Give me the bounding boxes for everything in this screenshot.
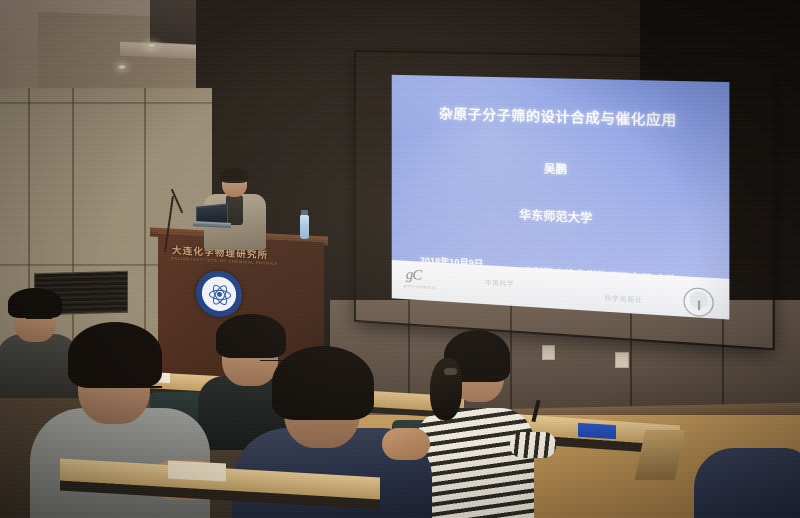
presentation-slide: 杂原子分子筛的设计合成与催化应用 吴鹏 华东师范大学 2018年10月9日 中科… xyxy=(392,75,730,320)
lecture-hall-photo: 杂原子分子筛的设计合成与催化应用 吴鹏 华东师范大学 2018年10月9日 中科… xyxy=(0,0,800,518)
ceiling-downlight-icon xyxy=(145,43,158,48)
slide-affiliation: 华东师范大学 xyxy=(392,201,730,233)
tree-circle-logo-icon xyxy=(684,287,714,318)
gc-logo-icon: gC xyxy=(406,267,422,285)
audience-member xyxy=(30,330,210,518)
audience-member xyxy=(414,336,534,518)
wall-outlet xyxy=(542,345,555,360)
water-bottle-icon xyxy=(300,215,309,239)
wall-outlet xyxy=(615,352,629,368)
publisher-logo-right: 科学出版社 xyxy=(605,293,643,305)
publisher-logo-left: 中国科学 xyxy=(485,278,514,289)
presenter-laptop xyxy=(196,205,230,227)
slide-title: 杂原子分子筛的设计合成与催化应用 xyxy=(392,101,730,131)
audience-member xyxy=(694,448,800,518)
paper-sheet xyxy=(168,460,226,481)
blue-notebook xyxy=(578,423,616,439)
slide-speaker: 吴鹏 xyxy=(392,154,730,183)
projection-screen: 杂原子分子筛的设计合成与催化应用 吴鹏 华东师范大学 2018年10月9日 中科… xyxy=(356,52,773,348)
atom-circle-logo-icon xyxy=(196,270,242,318)
ceiling-downlight-icon xyxy=(118,65,126,69)
gc-logo-subtitle: green chemistry xyxy=(404,284,436,290)
